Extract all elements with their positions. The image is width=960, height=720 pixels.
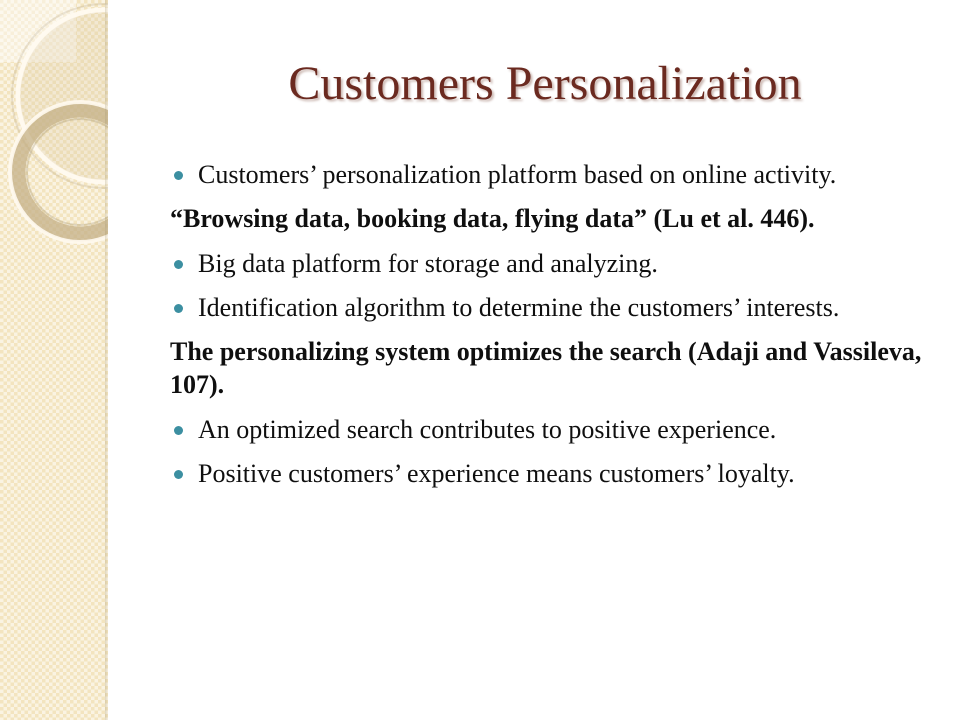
slide-title: Customers Personalization [150, 58, 940, 110]
bullet-text: Positive customers’ experience means cus… [198, 457, 928, 490]
bullet-dot-icon [174, 171, 183, 180]
slide: Customers Personalization Customers’ per… [0, 0, 960, 720]
bullet-dot-icon [174, 260, 183, 269]
bullet-text: Identification algorithm to determine th… [198, 291, 928, 324]
bullet-item: Customers’ personalization platform base… [166, 158, 928, 191]
bullet-dot-icon [174, 304, 183, 313]
bullet-item: An optimized search contributes to posit… [166, 413, 928, 446]
bullet-text: Big data platform for storage and analyz… [198, 247, 928, 280]
bullet-item: Positive customers’ experience means cus… [166, 457, 928, 490]
bullet-item: Identification algorithm to determine th… [166, 291, 928, 324]
bullet-item: Big data platform for storage and analyz… [166, 247, 928, 280]
decorative-rings-graphic [0, 0, 108, 720]
statement-quote: “Browsing data, booking data, flying dat… [166, 202, 928, 235]
statement-claim: The personalizing system optimizes the s… [166, 335, 928, 401]
bullet-dot-icon [174, 426, 183, 435]
bullet-text: Customers’ personalization platform base… [198, 158, 928, 191]
decorative-side-panel [0, 0, 108, 720]
slide-body: Customers’ personalization platform base… [166, 158, 928, 501]
bullet-text: An optimized search contributes to posit… [198, 413, 928, 446]
panel-edge-divider [105, 0, 108, 720]
bullet-dot-icon [174, 470, 183, 479]
